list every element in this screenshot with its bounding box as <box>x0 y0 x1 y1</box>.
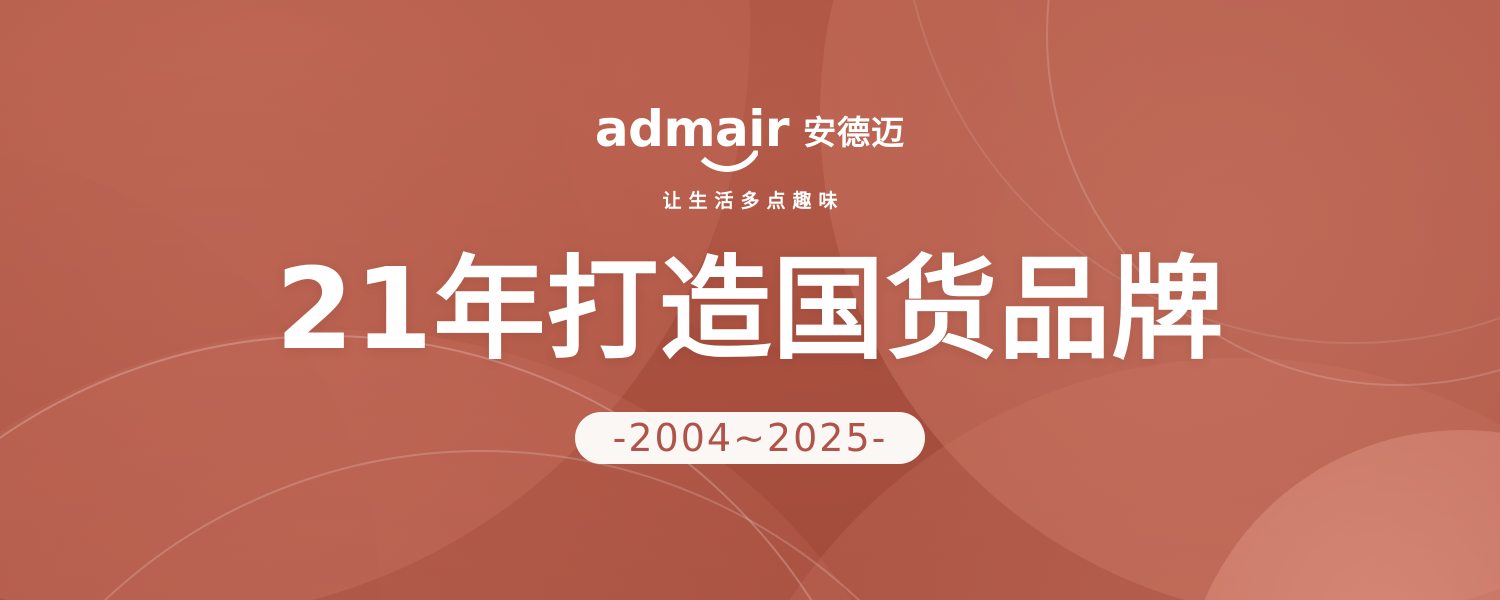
year-range-badge: -2004~2025- <box>575 412 925 464</box>
smile-curve-icon <box>690 134 764 172</box>
headline-title: 21年打造国货品牌 <box>276 248 1225 373</box>
brand-anniversary-banner: admair 安德迈 让生活多点趣味 21年打造国货品牌 -2004~2025- <box>0 0 1500 600</box>
logo-mark: admair <box>595 104 789 158</box>
banner-content: admair 安德迈 让生活多点趣味 21年打造国货品牌 -2004~2025- <box>0 0 1500 600</box>
year-range-label: -2004~2025- <box>613 419 888 457</box>
brand-tagline: 让生活多点趣味 <box>655 186 844 213</box>
brand-logo-lockup: admair 安德迈 <box>595 104 905 158</box>
logo-chinese-name: 安德迈 <box>803 104 905 149</box>
